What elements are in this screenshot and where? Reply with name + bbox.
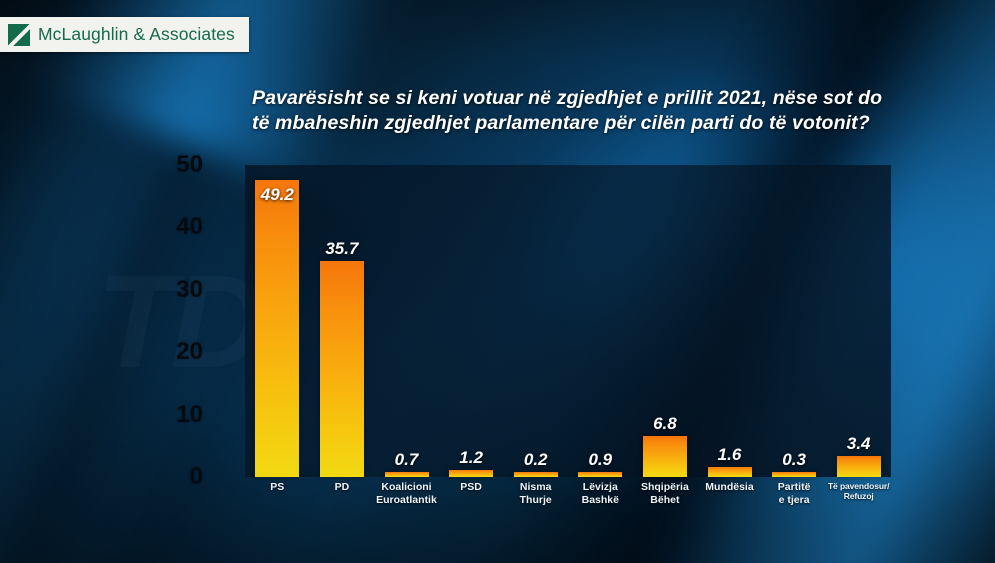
bar-group[interactable]: 0.2: [514, 170, 558, 477]
bars-container: 49.235.70.71.20.20.96.81.60.33.4: [245, 170, 891, 477]
page-title: Pavarësisht se si keni votuar në zgjedhj…: [252, 86, 902, 136]
y-axis-tick-label: 50: [143, 151, 203, 179]
bar[interactable]: [320, 261, 364, 477]
x-axis-tick-label-line: Euroatlantik: [368, 494, 445, 507]
y-axis-tick-label: 40: [143, 213, 203, 241]
x-axis-labels: PSPDKoalicioniEuroatlantikPSDNismaThurje…: [245, 481, 891, 529]
brand-logo: McLaughlin & Associates: [0, 17, 249, 52]
bar-group[interactable]: 3.4: [837, 170, 881, 477]
bar[interactable]: [837, 456, 881, 477]
bar-value-label: 0.7: [395, 450, 419, 470]
bar[interactable]: [385, 472, 429, 477]
y-axis-tick-label: 20: [143, 338, 203, 366]
y-axis-tick-label: 0: [143, 463, 203, 491]
bar-value-label: 3.4: [847, 434, 871, 454]
bar-group[interactable]: 0.3: [772, 170, 816, 477]
bar-value-label: 0.2: [524, 450, 548, 470]
bar-group[interactable]: 1.2: [449, 170, 493, 477]
bar-value-label: 0.3: [782, 450, 806, 470]
bar-group[interactable]: 6.8: [643, 170, 687, 477]
y-axis-tick-label: 10: [143, 401, 203, 429]
slide-canvas: TD McLaughlin & Associates Pavarësisht s…: [0, 0, 995, 563]
bar[interactable]: [643, 436, 687, 477]
x-axis-tick-label-line: Bëhet: [627, 494, 704, 507]
bar-value-label: 0.9: [588, 450, 612, 470]
bar-group[interactable]: 35.7: [320, 170, 364, 477]
bar-value-label: 35.7: [325, 239, 358, 259]
bar-value-label: 1.2: [459, 448, 483, 468]
bar[interactable]: [514, 472, 558, 477]
x-axis-tick-label-line: Refuzoj: [820, 491, 897, 501]
bar[interactable]: [255, 180, 299, 477]
bar-value-label: 49.2: [261, 185, 294, 205]
bar-group[interactable]: 49.2: [255, 170, 299, 477]
bar[interactable]: [708, 467, 752, 477]
y-axis-tick-label: 30: [143, 276, 203, 304]
bar-group[interactable]: 0.9: [578, 170, 622, 477]
bar-group[interactable]: 0.7: [385, 170, 429, 477]
bar-value-label: 1.6: [718, 445, 742, 465]
x-axis-tick-label-line: Të pavendosur/: [820, 481, 897, 491]
x-axis-tick-label: Të pavendosur/Refuzoj: [820, 481, 897, 502]
bar-value-label: 6.8: [653, 414, 677, 434]
bar[interactable]: [578, 472, 622, 477]
bar-group[interactable]: 1.6: [708, 170, 752, 477]
brand-name: McLaughlin & Associates: [38, 24, 235, 45]
bar[interactable]: [449, 470, 493, 477]
bar[interactable]: [772, 472, 816, 477]
diagonal-slash-square-icon: [8, 24, 30, 46]
